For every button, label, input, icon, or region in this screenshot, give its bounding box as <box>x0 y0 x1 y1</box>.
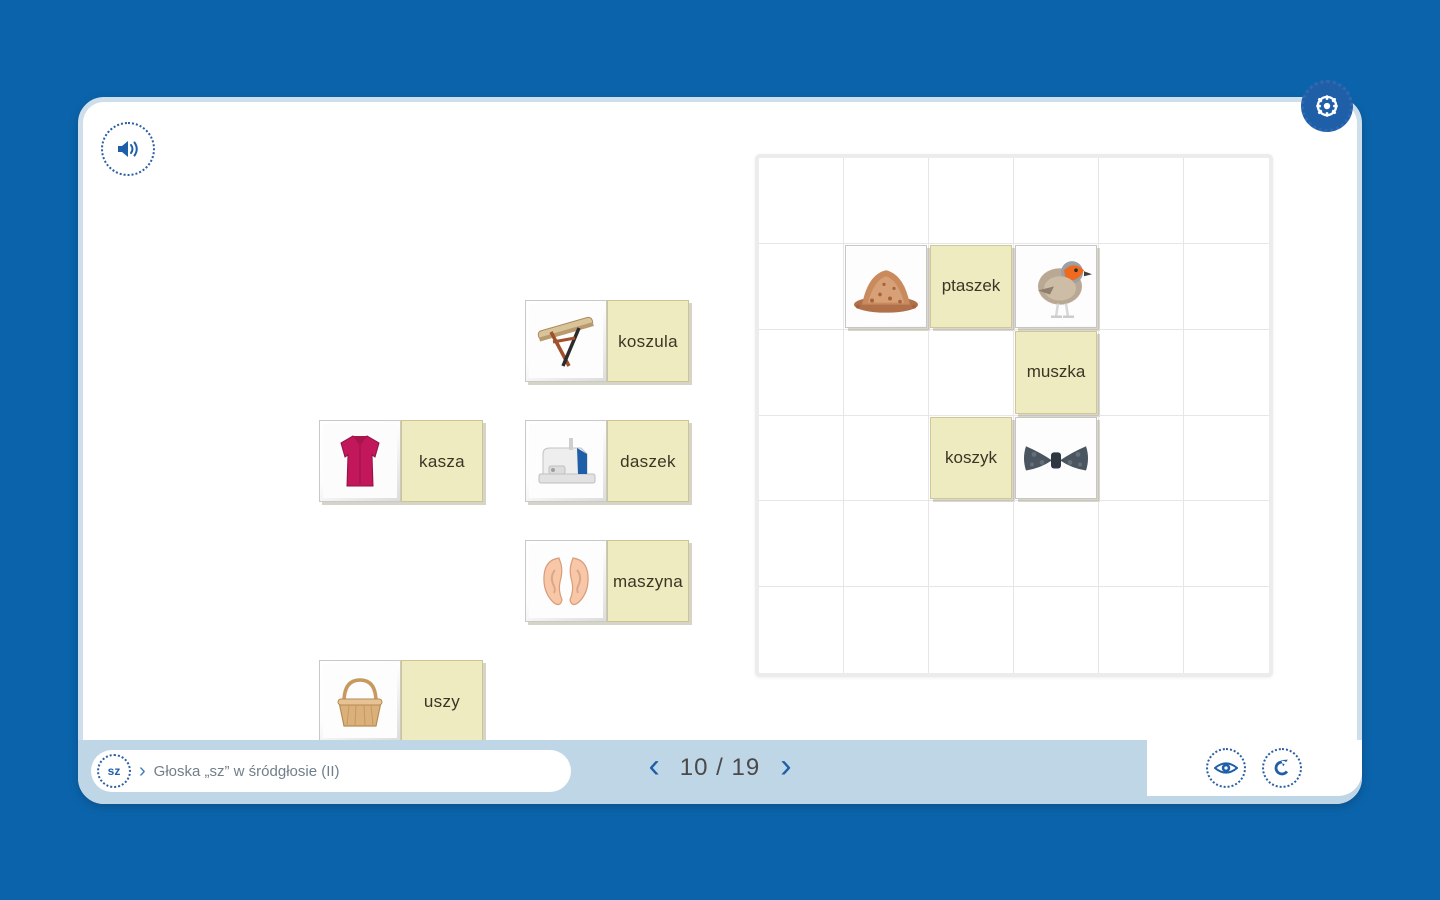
word-pairs-area: koszula kasza <box>83 102 723 732</box>
grid-cell[interactable] <box>929 330 1014 416</box>
grid-cell[interactable] <box>759 244 844 330</box>
grid-cell[interactable] <box>929 158 1014 244</box>
phoneme-badge-label: sz <box>108 764 121 778</box>
grid-cell[interactable] <box>1099 158 1184 244</box>
word-pair-uszy[interactable]: uszy <box>319 660 483 742</box>
grid-cell[interactable] <box>1099 416 1184 502</box>
next-page-button[interactable]: › <box>780 749 791 783</box>
grid-cell[interactable] <box>1099 587 1184 673</box>
sewing-machine-icon <box>529 424 603 498</box>
grid-word-tile[interactable]: koszyk <box>930 417 1012 500</box>
grid-cell[interactable] <box>844 158 929 244</box>
footer-bar: sz › Głoska „sz” w śródgłosie (II) ‹ 10 … <box>78 740 1362 804</box>
grid-cell[interactable] <box>1184 158 1269 244</box>
gear-icon <box>1312 91 1342 121</box>
bird-icon <box>1016 246 1096 327</box>
ironing-board-icon <box>529 304 603 378</box>
grid-cell[interactable] <box>844 330 929 416</box>
grid-cell[interactable] <box>1099 244 1184 330</box>
grid-cell[interactable] <box>1014 244 1099 330</box>
grid-cell[interactable] <box>844 244 929 330</box>
grid-word-label: muszka <box>1027 362 1086 382</box>
ears-icon <box>529 544 603 618</box>
grid-cell[interactable] <box>759 501 844 587</box>
bowtie-icon <box>1016 418 1096 499</box>
grid-cell[interactable] <box>1099 501 1184 587</box>
exercise-card: koszula kasza <box>78 97 1362 804</box>
picture-tile-ironing-board[interactable] <box>525 300 607 382</box>
page-indicator: 10 / 19 <box>680 754 760 782</box>
crossword-grid: ptaszek <box>755 154 1273 677</box>
word-tile[interactable]: koszula <box>607 300 689 382</box>
grid-cell[interactable] <box>1184 501 1269 587</box>
grid-cell[interactable] <box>929 587 1014 673</box>
preview-button[interactable] <box>1206 748 1246 788</box>
word-pair-kasza[interactable]: kasza <box>319 420 483 502</box>
grid-cell[interactable] <box>759 158 844 244</box>
grid-cell[interactable] <box>844 501 929 587</box>
grid-cell[interactable] <box>759 587 844 673</box>
chevron-right-icon: › <box>139 760 146 783</box>
grid-cell[interactable] <box>1014 587 1099 673</box>
word-label: koszula <box>618 332 678 352</box>
basket-icon <box>323 664 397 738</box>
settings-button[interactable] <box>1301 80 1353 132</box>
grid-cell[interactable] <box>844 587 929 673</box>
phoneme-badge[interactable]: sz <box>97 754 131 788</box>
picture-tile-ears[interactable] <box>525 540 607 622</box>
grid-cells: ptaszek <box>759 158 1269 673</box>
breadcrumb-label: Głoska „sz” w śródgłosie (II) <box>154 763 340 780</box>
grid-cell[interactable]: muszka <box>1014 330 1099 416</box>
grid-cell[interactable] <box>759 416 844 502</box>
word-tile[interactable]: maszyna <box>607 540 689 622</box>
grid-cell[interactable] <box>1014 501 1099 587</box>
prev-page-button[interactable]: ‹ <box>648 749 659 783</box>
eye-icon <box>1214 759 1238 777</box>
grid-word-tile[interactable]: ptaszek <box>930 245 1012 328</box>
grid-picture-bowtie[interactable] <box>1015 417 1097 500</box>
word-tile[interactable]: daszek <box>607 420 689 502</box>
reset-icon <box>1270 756 1294 780</box>
word-tile[interactable]: uszy <box>401 660 483 742</box>
picture-tile-sewing-machine[interactable] <box>525 420 607 502</box>
grid-picture-bird[interactable] <box>1015 245 1097 328</box>
grid-cell[interactable] <box>1184 416 1269 502</box>
word-label: daszek <box>620 452 676 472</box>
grid-cell[interactable] <box>1014 158 1099 244</box>
pink-shirt-icon <box>323 424 397 498</box>
word-pair-maszyna[interactable]: maszyna <box>525 540 689 622</box>
grid-cell[interactable] <box>1099 330 1184 416</box>
word-pair-daszek[interactable]: daszek <box>525 420 689 502</box>
grid-word-tile[interactable]: muszka <box>1015 331 1097 414</box>
grid-picture-kasza-grain[interactable] <box>845 245 927 328</box>
reset-button[interactable] <box>1262 748 1302 788</box>
word-label: maszyna <box>613 572 683 592</box>
word-label: uszy <box>424 692 460 712</box>
grid-cell[interactable] <box>1014 416 1099 502</box>
grid-cell[interactable] <box>759 330 844 416</box>
grid-cell[interactable] <box>1184 330 1269 416</box>
word-label: kasza <box>419 452 465 472</box>
footer-right-plate <box>1147 740 1362 796</box>
grid-cell[interactable] <box>1184 587 1269 673</box>
grid-word-label: ptaszek <box>942 276 1001 296</box>
word-tile[interactable]: kasza <box>401 420 483 502</box>
picture-tile-pink-shirt[interactable] <box>319 420 401 502</box>
picture-tile-basket[interactable] <box>319 660 401 742</box>
grid-cell[interactable] <box>1184 244 1269 330</box>
kasza-grain-icon <box>846 246 926 327</box>
grid-cell[interactable] <box>929 501 1014 587</box>
grid-cell[interactable] <box>844 416 929 502</box>
grid-word-label: koszyk <box>945 448 997 468</box>
grid-cell[interactable]: koszyk <box>929 416 1014 502</box>
grid-cell[interactable]: ptaszek <box>929 244 1014 330</box>
breadcrumb[interactable]: sz › Głoska „sz” w śródgłosie (II) <box>91 750 571 792</box>
word-pair-koszula[interactable]: koszula <box>525 300 689 382</box>
